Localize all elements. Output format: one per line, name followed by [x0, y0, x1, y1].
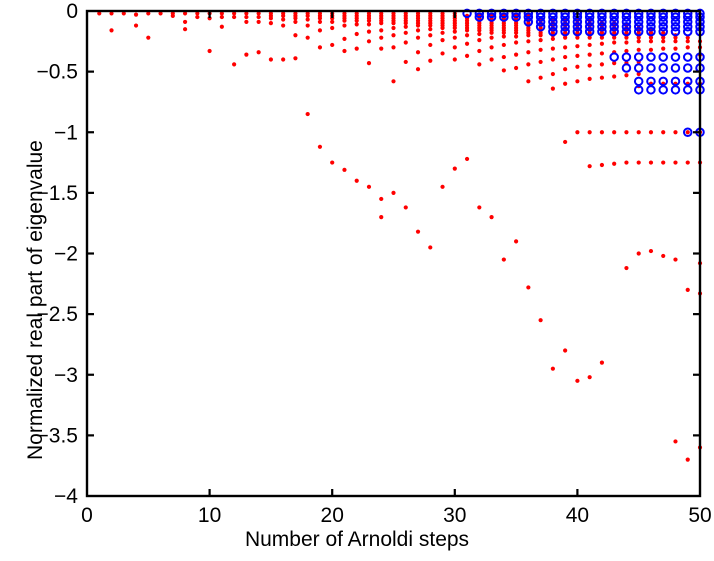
data-point [232, 62, 236, 66]
data-point [440, 31, 444, 35]
data-point [563, 45, 567, 49]
data-point [109, 28, 113, 32]
data-point [684, 64, 692, 72]
data-point [134, 13, 138, 17]
data-point [281, 23, 285, 27]
data-point [600, 163, 604, 167]
data-point [330, 160, 334, 164]
data-point [391, 26, 395, 30]
data-point [416, 67, 420, 71]
data-point [514, 31, 518, 35]
data-point [588, 375, 592, 379]
data-point [563, 55, 567, 59]
data-point [563, 82, 567, 86]
data-point [502, 55, 506, 59]
data-point [661, 39, 665, 43]
data-point [453, 57, 457, 61]
data-point [661, 46, 665, 50]
scatter-plot: 010203040500−0.5−1−1.5−2−2.5−3−3.5−4 [0, 0, 714, 561]
data-point [624, 266, 628, 270]
x-tick-label: 50 [688, 504, 711, 527]
data-point [649, 130, 653, 134]
data-point [379, 28, 383, 32]
data-point [477, 28, 481, 32]
data-points-layer [97, 10, 704, 462]
data-point [637, 39, 641, 43]
data-point [342, 23, 346, 27]
data-point [416, 50, 420, 54]
data-point [342, 37, 346, 41]
data-point [306, 36, 310, 40]
data-point [293, 20, 297, 24]
data-point [563, 140, 567, 144]
data-point [526, 50, 530, 54]
data-point [465, 42, 469, 46]
data-point [391, 21, 395, 25]
x-axis-title: Number of Arnoldi steps [0, 528, 714, 552]
data-point [502, 257, 506, 261]
y-tick-label: −4 [54, 485, 78, 508]
data-point [404, 31, 408, 35]
data-point [489, 31, 493, 35]
data-point [428, 27, 432, 31]
data-point [686, 458, 690, 462]
data-point [526, 79, 530, 83]
data-point [514, 239, 518, 243]
data-point [489, 57, 493, 61]
data-point [269, 21, 273, 25]
data-point [673, 160, 677, 164]
data-point [379, 36, 383, 40]
data-point [600, 361, 604, 365]
data-point [659, 86, 667, 94]
data-point [244, 20, 248, 24]
data-point [330, 43, 334, 47]
data-point [404, 25, 408, 29]
data-point [647, 64, 655, 72]
data-point [661, 254, 665, 258]
data-point [551, 367, 555, 371]
data-point [134, 23, 138, 27]
data-point [659, 53, 667, 61]
data-point [404, 60, 408, 64]
data-point [440, 38, 444, 42]
data-point [612, 74, 616, 78]
series-converged-ritz-value [463, 10, 703, 136]
data-point [453, 30, 457, 34]
data-point [183, 20, 187, 24]
data-point [684, 53, 692, 61]
data-point [404, 40, 408, 44]
data-point [600, 51, 604, 55]
y-tick-label: 0 [66, 0, 78, 23]
data-point [502, 68, 506, 72]
data-point [649, 48, 653, 52]
data-point [367, 185, 371, 189]
data-point [647, 86, 655, 94]
data-point [673, 439, 677, 443]
data-point [623, 53, 631, 61]
data-point [404, 205, 408, 209]
data-point [514, 66, 518, 70]
data-point [477, 32, 481, 36]
data-point [659, 64, 667, 72]
data-point [391, 45, 395, 49]
data-point [600, 76, 604, 80]
data-point [600, 62, 604, 66]
data-point [575, 79, 579, 83]
data-point [465, 33, 469, 37]
data-point [391, 191, 395, 195]
data-point [342, 168, 346, 172]
data-point [391, 33, 395, 37]
data-point [453, 45, 457, 49]
data-point [637, 48, 641, 52]
data-point [146, 36, 150, 40]
data-point [269, 16, 273, 20]
data-point [306, 112, 310, 116]
data-point [647, 53, 655, 61]
data-point [477, 205, 481, 209]
data-point [600, 42, 604, 46]
data-point [379, 215, 383, 219]
data-point [612, 162, 616, 166]
data-point [610, 53, 618, 61]
data-point [526, 39, 530, 43]
data-point [220, 25, 224, 29]
data-point [563, 67, 567, 71]
data-point [318, 20, 322, 24]
data-point [477, 38, 481, 42]
data-point [539, 38, 543, 42]
data-point [183, 27, 187, 31]
data-point [379, 46, 383, 50]
data-point [624, 40, 628, 44]
data-point [342, 19, 346, 23]
data-point [416, 230, 420, 234]
data-point [281, 14, 285, 18]
y-tick-label: −3 [54, 364, 78, 387]
data-point [355, 22, 359, 26]
data-point [416, 36, 420, 40]
data-point [673, 257, 677, 261]
data-point [539, 60, 543, 64]
data-point [539, 76, 543, 80]
data-point [649, 160, 653, 164]
data-point [539, 33, 543, 37]
data-point [551, 57, 555, 61]
data-point [293, 56, 297, 60]
series-unconverged-eigenvalue [97, 11, 702, 461]
data-point [575, 130, 579, 134]
data-point [684, 86, 692, 94]
axes-layer [87, 11, 700, 496]
data-point [318, 28, 322, 32]
data-point [612, 130, 616, 134]
data-point [489, 45, 493, 49]
data-point [465, 54, 469, 58]
data-point [342, 49, 346, 53]
data-point [379, 197, 383, 201]
data-point [551, 87, 555, 91]
data-point [588, 53, 592, 57]
data-point [281, 57, 285, 61]
data-point [686, 45, 690, 49]
data-point [588, 130, 592, 134]
data-point [293, 16, 297, 20]
data-point [330, 26, 334, 30]
data-point [575, 44, 579, 48]
data-point [428, 43, 432, 47]
data-point [306, 17, 310, 21]
x-tick-label: 0 [81, 504, 93, 527]
x-tick-label: 30 [443, 504, 466, 527]
data-point [624, 160, 628, 164]
data-point [416, 23, 420, 27]
data-point [514, 40, 518, 44]
data-point [502, 43, 506, 47]
data-point [318, 145, 322, 149]
data-point [514, 34, 518, 38]
data-point [477, 62, 481, 66]
data-point [635, 78, 643, 86]
data-point [502, 31, 506, 35]
data-point [551, 72, 555, 76]
data-point [575, 65, 579, 69]
x-tick-label: 40 [566, 504, 589, 527]
data-point [588, 63, 592, 67]
data-point [489, 215, 493, 219]
data-point [208, 49, 212, 53]
data-point [428, 33, 432, 37]
data-point [477, 49, 481, 53]
x-tick-label: 10 [198, 504, 221, 527]
data-point [649, 249, 653, 253]
data-point [355, 19, 359, 23]
data-point [318, 16, 322, 20]
data-point [600, 130, 604, 134]
data-point [195, 15, 199, 19]
data-point [686, 288, 690, 292]
data-point [637, 160, 641, 164]
data-point [367, 22, 371, 26]
data-point [257, 50, 261, 54]
data-point [355, 46, 359, 50]
data-point [539, 48, 543, 52]
data-point [526, 285, 530, 289]
data-point [588, 77, 592, 81]
data-point [624, 130, 628, 134]
data-point [416, 28, 420, 32]
data-point [672, 64, 680, 72]
data-point [391, 79, 395, 83]
data-point [428, 245, 432, 249]
data-point [526, 62, 530, 66]
data-point [428, 59, 432, 63]
data-point [440, 185, 444, 189]
data-point [257, 20, 261, 24]
data-point [635, 53, 643, 61]
data-point [293, 33, 297, 37]
data-point [465, 28, 469, 32]
x-tick-label: 20 [321, 504, 344, 527]
data-point [367, 19, 371, 23]
data-point [232, 15, 236, 19]
data-point [661, 160, 665, 164]
data-point [440, 51, 444, 55]
y-tick-label: −2 [54, 243, 78, 266]
data-point [330, 20, 334, 24]
data-point [220, 15, 224, 19]
data-point [635, 64, 643, 72]
data-point [367, 39, 371, 43]
y-axis-title: Normalized real part of eigenvalue [24, 140, 48, 460]
data-point [686, 160, 690, 164]
data-point [551, 46, 555, 50]
data-point [623, 64, 631, 72]
data-point [661, 130, 665, 134]
data-point [440, 26, 444, 30]
data-point [171, 14, 175, 18]
data-point [355, 179, 359, 183]
data-point [489, 36, 493, 40]
data-point [269, 57, 273, 61]
data-point [612, 40, 616, 44]
data-point [672, 53, 680, 61]
data-point [367, 30, 371, 34]
data-point [453, 26, 457, 30]
data-point [244, 15, 248, 19]
data-point [379, 21, 383, 25]
data-point [673, 39, 677, 43]
figure-container: 010203040500−0.5−1−1.5−2−2.5−3−3.5−4 Num… [0, 0, 714, 561]
data-point [453, 36, 457, 40]
data-point [539, 318, 543, 322]
data-point [453, 167, 457, 171]
data-point [637, 251, 641, 255]
data-point [244, 53, 248, 57]
data-point [673, 46, 677, 50]
data-point [588, 164, 592, 168]
data-point [428, 23, 432, 27]
data-point [588, 43, 592, 47]
data-point [306, 14, 310, 18]
y-tick-label: −0.5 [37, 61, 78, 84]
data-point [637, 130, 641, 134]
data-point [404, 21, 408, 25]
data-point [563, 348, 567, 352]
y-tick-label: −1 [54, 121, 78, 144]
data-point [575, 379, 579, 383]
data-point [673, 130, 677, 134]
data-point [367, 61, 371, 65]
data-point [281, 17, 285, 21]
data-point [514, 53, 518, 57]
data-point [575, 54, 579, 58]
data-point [649, 39, 653, 43]
data-point [526, 33, 530, 37]
tick-labels-layer: 010203040500−0.5−1−1.5−2−2.5−3−3.5−4 [37, 0, 712, 527]
data-point [465, 157, 469, 161]
data-point [684, 28, 692, 36]
data-point [318, 45, 322, 49]
plot-box [87, 11, 700, 496]
data-point [502, 34, 506, 38]
data-point [686, 39, 690, 43]
data-point [551, 37, 555, 41]
data-point [624, 73, 628, 77]
data-point [672, 86, 680, 94]
data-point [306, 23, 310, 27]
data-point [686, 130, 690, 134]
data-point [257, 15, 261, 19]
data-point [355, 32, 359, 36]
